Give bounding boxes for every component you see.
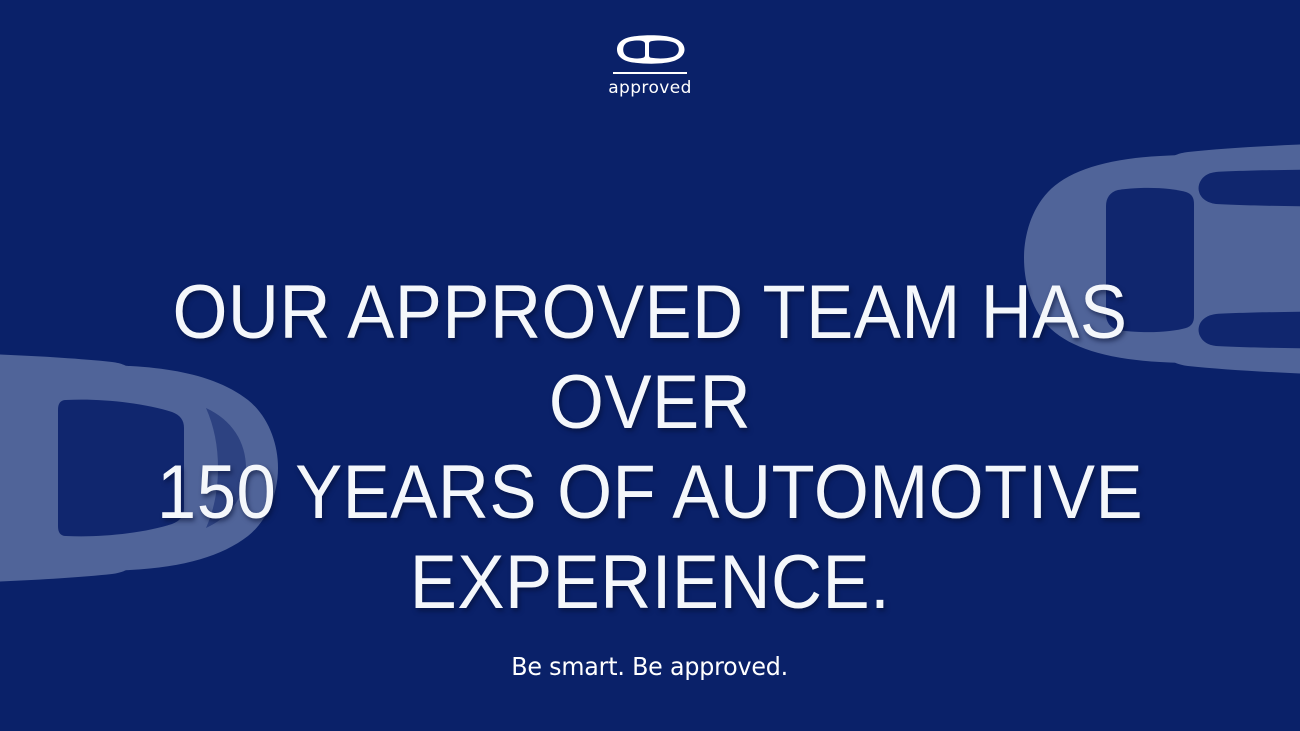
page-title: OUR APPROVED TEAM HAS OVER 150 YEARS OF … xyxy=(111,268,1190,628)
tagline-block: Be smart. Be approved. xyxy=(0,652,1300,682)
logo-wordmark: approved xyxy=(608,79,692,98)
headline-block: OUR APPROVED TEAM HAS OVER 150 YEARS OF … xyxy=(70,268,1230,628)
brand-slide: approved OUR APPROVED TEAM HAS OVER 150 … xyxy=(0,0,1300,731)
logo-lockup: approved xyxy=(0,34,1300,98)
brand-tagline: Be smart. Be approved. xyxy=(512,652,789,682)
logo-divider xyxy=(613,72,687,74)
car-top-view-icon xyxy=(613,34,687,65)
